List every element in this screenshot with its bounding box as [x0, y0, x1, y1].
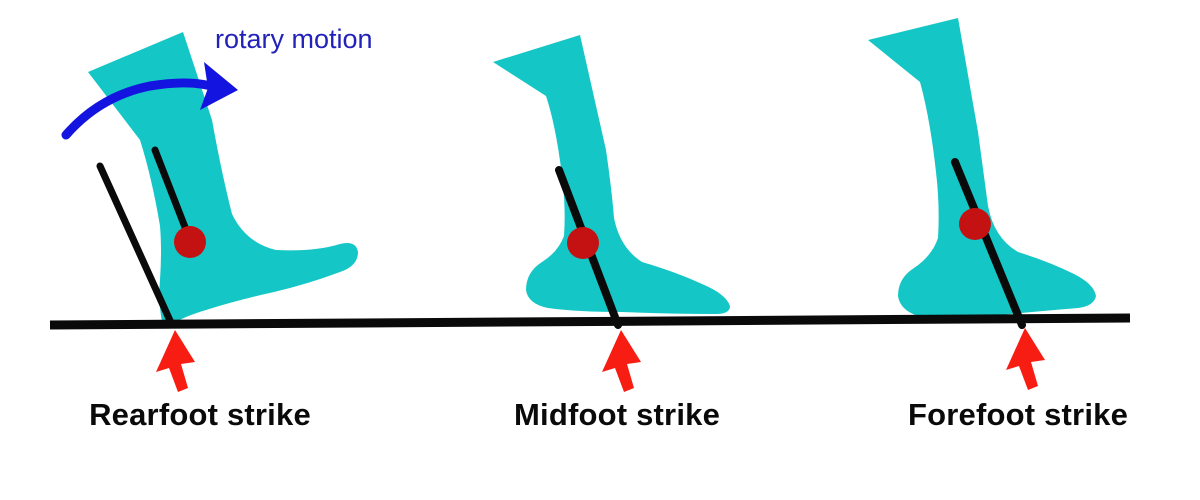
leg-foot-shape-forefoot [868, 18, 1096, 317]
panel-forefoot [868, 18, 1096, 390]
label-forefoot-strike: Forefoot strike [908, 397, 1128, 432]
label-midfoot-strike: Midfoot strike [514, 397, 720, 432]
strike-arrow-midfoot [602, 330, 641, 392]
ankle-marker-forefoot [959, 208, 991, 240]
panel-rearfoot [66, 32, 358, 392]
panel-midfoot [493, 35, 730, 392]
ankle-marker-midfoot [567, 227, 599, 259]
ankle-marker-rearfoot [174, 226, 206, 258]
rotary-motion-label: rotary motion [215, 24, 373, 54]
diagram-canvas: rotary motion Rearfoot strike Midfoot st… [0, 0, 1200, 500]
leg-foot-shape-rearfoot [88, 32, 358, 322]
strike-arrow-forefoot [1006, 328, 1045, 390]
strike-arrow-rearfoot [156, 330, 195, 392]
leg-foot-shape-midfoot [493, 35, 730, 314]
label-rearfoot-strike: Rearfoot strike [89, 397, 311, 432]
ground-line [50, 318, 1130, 325]
foot-strike-diagram: rotary motion Rearfoot strike Midfoot st… [0, 0, 1200, 500]
